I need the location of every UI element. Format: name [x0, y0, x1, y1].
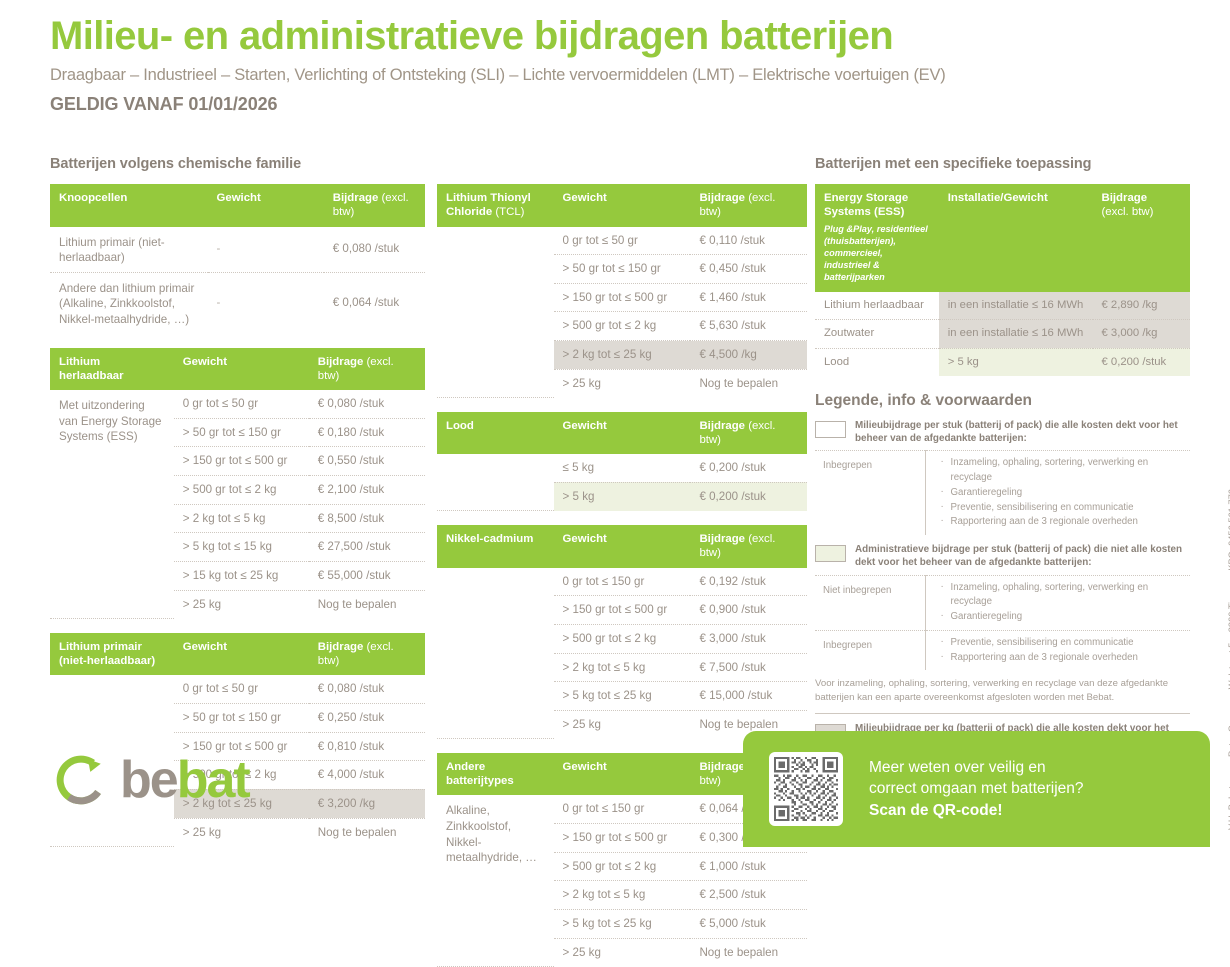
col-header-installation-weight: Installatie/Gewicht: [939, 184, 1093, 292]
qr-banner-text: Meer weten over veilig en correct omgaan…: [869, 757, 1084, 821]
cell-weight: 0 gr tot ≤ 50 gr: [174, 675, 309, 703]
cell-weight: > 500 gr tot ≤ 2 kg: [554, 312, 691, 341]
cell-fee: € 0,250 /stuk: [309, 703, 425, 732]
cell-category: [437, 227, 554, 398]
cell-weight: > 5 kg: [939, 348, 1093, 376]
col-header-contribution: Bijdrage (excl. btw): [690, 184, 807, 227]
cell-fee: € 2,500 /stuk: [690, 881, 807, 910]
cell-weight: in een installatie ≤ 16 MWh: [939, 320, 1093, 348]
qr-banner[interactable]: Meer weten over veilig en correct omgaan…: [743, 731, 1210, 847]
col-header-contribution: Bijdrage (excl. btw): [324, 184, 425, 227]
cell-weight: > 50 gr tot ≤ 150 gr: [174, 418, 309, 447]
table-lithium-thionyl-chloride: Lithium Thionyl Chloride (TCL) Gewicht B…: [437, 184, 807, 398]
cell-category: Alkaline, Zinkkoolstof, Nikkel-metaalhyd…: [437, 795, 554, 966]
col-header-andere-batterijtypes: Andere batterijtypes: [437, 753, 554, 796]
cell-fee: € 0,900 /stuk: [690, 596, 807, 625]
col-header-lithium-primair: Lithium primair(niet-herlaadbaar): [50, 633, 174, 676]
table-row: 0 gr tot ≤ 150 gr € 0,192 /stuk: [437, 568, 807, 596]
bebat-recycle-icon: [52, 751, 110, 809]
legend-row: Inbegrepen Inzameling, ophaling, sorteri…: [815, 451, 1190, 535]
table-row-highlighted: Zoutwater in een installatie ≤ 16 MWh € …: [815, 320, 1190, 348]
cell-fee: € 3,000 /stuk: [690, 624, 807, 653]
table-row-highlighted: Lood > 5 kg € 0,200 /stuk: [815, 348, 1190, 376]
cell-weight: > 500 gr tot ≤ 2 kg: [174, 476, 309, 505]
cell-fee: € 0,180 /stuk: [309, 418, 425, 447]
table-row: Met uitzondering van Energy Storage Syst…: [50, 390, 425, 418]
cell-fee: € 0,080 /stuk: [324, 227, 425, 273]
cell-category: Lithium primair (niet-herlaadbaar): [50, 227, 208, 273]
contribution-bold: Bijdrage: [318, 356, 364, 368]
col-header-contribution: Bijdrage (excl. btw): [309, 348, 425, 391]
col-header-weight: Gewicht: [554, 412, 691, 455]
cell-fee: Nog te bepalen: [690, 938, 807, 966]
cell-fee: € 4,000 /stuk: [309, 761, 425, 790]
cell-fee: Nog te bepalen: [309, 590, 425, 618]
legend-list-item: Inzameling, ophaling, sortering, verwerk…: [940, 456, 1191, 485]
cell-weight: > 2 kg tot ≤ 5 kg: [554, 653, 691, 682]
contribution-light: (excl. btw): [1102, 206, 1154, 218]
cell-weight: > 5 kg: [554, 482, 691, 510]
page-subtitle: Draagbaar – Industrieel – Starten, Verli…: [50, 66, 1190, 85]
header-light: (niet-herlaadbaar): [59, 655, 155, 667]
page-header: Milieu- en administratieve bijdragen bat…: [50, 14, 1190, 115]
cell-fee: € 3,200 /kg: [309, 789, 425, 818]
cell-weight: 0 gr tot ≤ 50 gr: [554, 227, 691, 255]
qr-line-3: Scan de QR-code!: [869, 800, 1084, 821]
cell-weight: > 25 kg: [554, 369, 691, 397]
cell-weight: > 5 kg tot ≤ 15 kg: [174, 533, 309, 562]
legend-list-item: Preventie, sensibilisering en communicat…: [940, 636, 1191, 651]
cell-category: [437, 568, 554, 739]
table-row-highlighted: Lithium herlaadbaar in een installatie ≤…: [815, 292, 1190, 320]
col-header-lood: Lood: [437, 412, 554, 455]
header-light: (TCL): [495, 206, 524, 218]
logo-bat: bat: [177, 751, 249, 809]
cell-fee: € 5,000 /stuk: [690, 910, 807, 939]
contribution-bold: Bijdrage: [699, 420, 745, 432]
legend-title: Legende, info & voorwaarden: [815, 392, 1190, 410]
col-header-lithium-herlaadbaar: Lithium herlaadbaar: [50, 348, 174, 391]
legend-values: Inzameling, ophaling, sortering, verwerk…: [925, 575, 1190, 630]
cell-weight: > 150 gr tot ≤ 500 gr: [174, 447, 309, 476]
table-energy-storage-systems: Energy Storage Systems (ESS)Plug &Play, …: [815, 184, 1190, 376]
legend-values: Inzameling, ophaling, sortering, verwerk…: [925, 451, 1190, 535]
col-header-nikkel-cadmium: Nikkel-cadmium: [437, 525, 554, 568]
legend-block-head: Milieubijdrage per stuk (batterij of pac…: [815, 419, 1190, 446]
cell-fee: € 0,200 /stuk: [690, 454, 807, 482]
cell-weight: > 2 kg tot ≤ 5 kg: [174, 504, 309, 533]
cell-fee: € 0,192 /stuk: [690, 568, 807, 596]
cell-weight: > 500 gr tot ≤ 2 kg: [554, 852, 691, 881]
cell-weight: > 2 kg tot ≤ 25 kg: [554, 341, 691, 370]
cell-fee: € 55,000 /stuk: [309, 562, 425, 591]
cell-fee: € 5,630 /stuk: [690, 312, 807, 341]
cell-weight: > 500 gr tot ≤ 2 kg: [554, 624, 691, 653]
table-row: 0 gr tot ≤ 50 gr € 0,080 /stuk: [50, 675, 425, 703]
cell-fee: € 0,110 /stuk: [690, 227, 807, 255]
bebat-logo: bebat: [52, 750, 249, 810]
col-header-knoopcellen: Knoopcellen: [50, 184, 208, 227]
contribution-bold: Bijdrage: [333, 192, 379, 204]
cell-weight: > 2 kg tot ≤ 5 kg: [554, 881, 691, 910]
cell-weight: > 25 kg: [174, 590, 309, 618]
table-row: ≤ 5 kg € 0,200 /stuk: [437, 454, 807, 482]
table-header-row: Lithium primair(niet-herlaadbaar) Gewich…: [50, 633, 425, 676]
col-header-contribution: Bijdrage(excl. btw): [1093, 184, 1191, 292]
cell-fee: € 2,890 /kg: [1093, 292, 1191, 320]
cell-weight: > 150 gr tot ≤ 500 gr: [554, 824, 691, 853]
table-header-row: Lithium Thionyl Chloride (TCL) Gewicht B…: [437, 184, 807, 227]
legend-row: Inbegrepen Preventie, sensibilisering en…: [815, 630, 1190, 670]
legend-heading: Milieubijdrage per stuk (batterij of pac…: [855, 419, 1190, 446]
column-chemical-family-left: Batterijen volgens chemische familie Kno…: [50, 156, 425, 847]
cell-category: Lood: [815, 348, 939, 376]
table-lood: Lood Gewicht Bijdrage (excl. btw) ≤ 5 kg…: [437, 412, 807, 511]
cell-weight: in een installatie ≤ 16 MWh: [939, 292, 1093, 320]
table-row: 0 gr tot ≤ 50 gr € 0,110 /stuk: [437, 227, 807, 255]
header-bold: Energy Storage Systems (ESS): [824, 192, 908, 218]
contribution-bold: Bijdrage: [318, 641, 364, 653]
cell-fee: € 2,100 /stuk: [309, 476, 425, 505]
cell-fee: € 0,450 /stuk: [690, 255, 807, 284]
cell-fee: € 4,500 /kg: [690, 341, 807, 370]
legend-block-milieubijdrage-per-stuk: Milieubijdrage per stuk (batterij of pac…: [815, 419, 1190, 535]
table-header-row: Energy Storage Systems (ESS)Plug &Play, …: [815, 184, 1190, 292]
table-lithium-herlaadbaar: Lithium herlaadbaar Gewicht Bijdrage (ex…: [50, 348, 425, 619]
legend-list-item: Garantieregeling: [940, 610, 1191, 625]
page-title: Milieu- en administratieve bijdragen bat…: [50, 14, 1190, 59]
col-header-contribution: Bijdrage (excl. btw): [690, 525, 807, 568]
cell-category: Lithium herlaadbaar: [815, 292, 939, 320]
cell-fee: € 1,460 /stuk: [690, 283, 807, 312]
legend-block-head: Administratieve bijdrage per stuk (batte…: [815, 543, 1190, 570]
cell-fee: € 0,200 /stuk: [1093, 348, 1191, 376]
col-header-tcl: Lithium Thionyl Chloride (TCL): [437, 184, 554, 227]
cell-fee: Nog te bepalen: [690, 369, 807, 397]
table-header-row: Knoopcellen Gewicht Bijdrage (excl. btw): [50, 184, 425, 227]
table-header-row: Nikkel-cadmium Gewicht Bijdrage (excl. b…: [437, 525, 807, 568]
cell-weight: 0 gr tot ≤ 50 gr: [174, 390, 309, 418]
poster-page: Milieu- en administratieve bijdragen bat…: [0, 0, 1230, 847]
cell-fee: € 8,500 /stuk: [309, 504, 425, 533]
header-italic: Plug &Play, residentieel (thuisbatterije…: [824, 223, 930, 284]
legend-heading: Administratieve bijdrage per stuk (batte…: [855, 543, 1190, 570]
cell-category: Andere dan lithium primair (Alkaline, Zi…: [50, 272, 208, 333]
valid-from-label: GELDIG VANAF 01/01/2026: [50, 94, 1190, 115]
legend-block-administratieve-bijdrage: Administratieve bijdrage per stuk (batte…: [815, 543, 1190, 713]
legend-list-item: Rapportering aan de 3 regionale overhede…: [940, 515, 1191, 530]
table-row: Andere dan lithium primair (Alkaline, Zi…: [50, 272, 425, 333]
table-row: Lithium primair (niet-herlaadbaar) - € 0…: [50, 227, 425, 273]
header-bold: Lithium primair: [59, 641, 142, 653]
legend-row: Niet inbegrepen Inzameling, ophaling, so…: [815, 575, 1190, 630]
cell-fee: € 0,810 /stuk: [309, 732, 425, 761]
table-nikkel-cadmium: Nikkel-cadmium Gewicht Bijdrage (excl. b…: [437, 525, 807, 739]
cell-fee: Nog te bepalen: [309, 818, 425, 846]
table-lithium-primair: Lithium primair(niet-herlaadbaar) Gewich…: [50, 633, 425, 847]
legend-list-item: Preventie, sensibilisering en communicat…: [940, 501, 1191, 516]
contribution-bold: Bijdrage: [699, 761, 745, 773]
section-title-specific-application: Batterijen met een specifieke toepassing: [815, 156, 1190, 172]
cell-weight: > 5 kg tot ≤ 25 kg: [554, 682, 691, 711]
legend-note: Voor inzameling, ophaling, sortering, ve…: [815, 677, 1190, 704]
cell-weight: > 25 kg: [554, 938, 691, 966]
cell-fee: € 0,080 /stuk: [309, 675, 425, 703]
qr-code-image: [769, 752, 843, 826]
cell-fee: € 15,000 /stuk: [690, 682, 807, 711]
cell-fee: € 0,064 /stuk: [324, 272, 425, 333]
logo-wordmark: bebat: [120, 750, 249, 810]
legend-key: Inbegrepen: [815, 630, 925, 670]
logo-row: bebat: [52, 750, 249, 810]
contribution-bold: Bijdrage: [1102, 192, 1148, 204]
cell-fee: € 3,000 /kg: [1093, 320, 1191, 348]
legend-list: Preventie, sensibilisering en communicat…: [940, 636, 1191, 665]
cell-weight: -: [208, 227, 324, 273]
cell-fee: € 0,080 /stuk: [309, 390, 425, 418]
cell-weight: > 25 kg: [174, 818, 309, 846]
legend-key: Niet inbegrepen: [815, 575, 925, 630]
legend-list-item: Inzameling, ophaling, sortering, verwerk…: [940, 581, 1191, 610]
legend-values: Preventie, sensibilisering en communicat…: [925, 630, 1190, 670]
col-header-weight: Gewicht: [554, 525, 691, 568]
qr-code-svg: [774, 757, 838, 821]
cell-fee: € 27,500 /stuk: [309, 533, 425, 562]
cell-category: Met uitzondering van Energy Storage Syst…: [50, 390, 174, 618]
col-header-weight: Gewicht: [208, 184, 324, 227]
legend-swatch-white-icon: [815, 421, 846, 438]
legend-swatch-green-icon: [815, 545, 846, 562]
legend-table: Niet inbegrepen Inzameling, ophaling, so…: [815, 575, 1190, 671]
section-title-chemical-family: Batterijen volgens chemische familie: [50, 156, 425, 172]
cell-weight: > 150 gr tot ≤ 500 gr: [554, 596, 691, 625]
legend-table: Inbegrepen Inzameling, ophaling, sorteri…: [815, 450, 1190, 535]
table-header-row: Lithium herlaadbaar Gewicht Bijdrage (ex…: [50, 348, 425, 391]
qr-line-1: Meer weten over veilig en: [869, 757, 1084, 778]
cell-weight: > 50 gr tot ≤ 150 gr: [554, 255, 691, 284]
legend-key: Inbegrepen: [815, 451, 925, 535]
col-header-weight: Gewicht: [174, 633, 309, 676]
cell-weight: 0 gr tot ≤ 150 gr: [554, 568, 691, 596]
cell-weight: > 5 kg tot ≤ 25 kg: [554, 910, 691, 939]
contribution-bold: Bijdrage: [699, 192, 745, 204]
qr-line-2: correct omgaan met batterijen?: [869, 778, 1084, 799]
legend-list-item: Garantieregeling: [940, 486, 1191, 501]
legend-list-item: Rapportering aan de 3 regionale overhede…: [940, 651, 1191, 666]
col-header-weight: Gewicht: [554, 753, 691, 796]
cell-category: [437, 454, 554, 510]
col-header-ess: Energy Storage Systems (ESS)Plug &Play, …: [815, 184, 939, 292]
cell-fee: € 0,200 /stuk: [690, 482, 807, 510]
cell-weight: > 15 kg tot ≤ 25 kg: [174, 562, 309, 591]
col-header-contribution: Bijdrage (excl. btw): [690, 412, 807, 455]
table-knoopcellen: Knoopcellen Gewicht Bijdrage (excl. btw)…: [50, 184, 425, 334]
legend-divider: [815, 713, 1190, 714]
cell-weight: > 150 gr tot ≤ 500 gr: [554, 283, 691, 312]
col-header-weight: Gewicht: [174, 348, 309, 391]
col-header-contribution: Bijdrage (excl. btw): [309, 633, 425, 676]
cell-category: Zoutwater: [815, 320, 939, 348]
legend-list: Inzameling, ophaling, sortering, verwerk…: [940, 456, 1191, 530]
table-header-row: Lood Gewicht Bijdrage (excl. btw): [437, 412, 807, 455]
col-header-weight: Gewicht: [554, 184, 691, 227]
cell-weight: > 50 gr tot ≤ 150 gr: [174, 703, 309, 732]
logo-be: be: [120, 751, 177, 809]
cell-fee: € 7,500 /stuk: [690, 653, 807, 682]
cell-weight: ≤ 5 kg: [554, 454, 691, 482]
cell-weight: > 25 kg: [554, 710, 691, 738]
cell-fee: € 1,000 /stuk: [690, 852, 807, 881]
legend-list: Inzameling, ophaling, sortering, verwerk…: [940, 581, 1191, 625]
cell-weight: -: [208, 272, 324, 333]
contribution-bold: Bijdrage: [699, 533, 745, 545]
cell-fee: € 0,550 /stuk: [309, 447, 425, 476]
cell-weight: 0 gr tot ≤ 150 gr: [554, 795, 691, 823]
